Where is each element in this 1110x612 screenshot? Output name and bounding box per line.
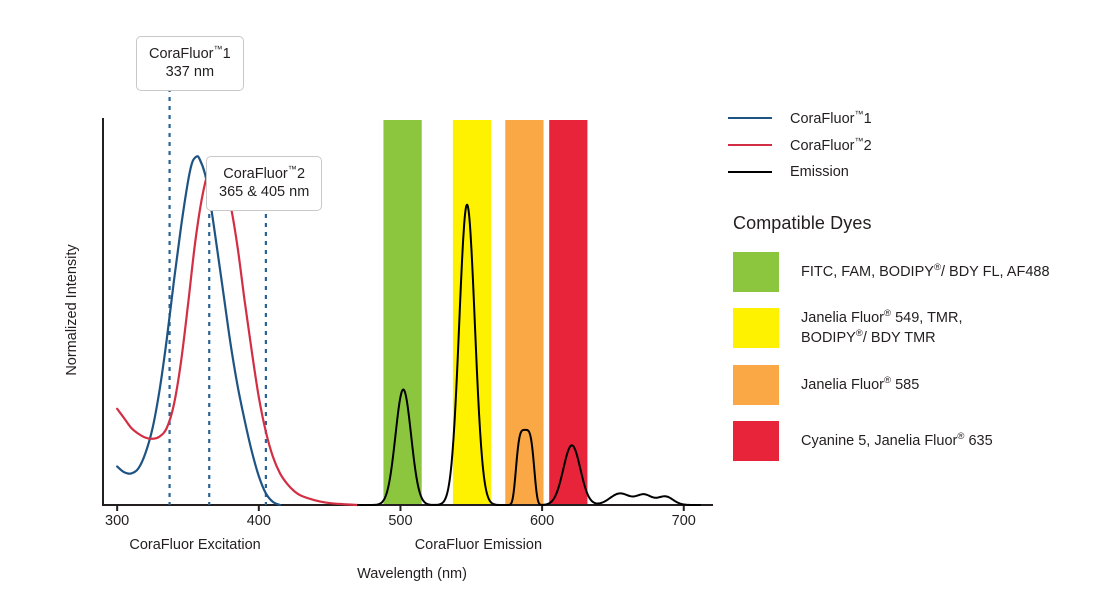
callout-cora-fluor-2: CoraFluor™2 365 & 405 nm bbox=[206, 156, 322, 211]
registered-icon: ® bbox=[884, 375, 891, 386]
callout-cf2-value: 365 & 405 nm bbox=[219, 183, 309, 202]
x-axis-tick-label-400: 400 bbox=[247, 513, 271, 529]
dye-legend-label-2: Janelia Fluor® 585 bbox=[801, 375, 919, 395]
callout-cf1-title: CoraFluor™1 bbox=[149, 44, 231, 63]
figure-root: CoraFluor™1 337 nm CoraFluor™2 365 & 405… bbox=[0, 0, 1110, 612]
dye-legend-label-3: Cyanine 5, Janelia Fluor® 635 bbox=[801, 431, 993, 451]
y-axis-title: Normalized Intensity bbox=[64, 244, 80, 375]
x-axis-region-label-excitation: CoraFluor Excitation bbox=[129, 537, 260, 553]
line-swatch-0 bbox=[728, 117, 772, 119]
callout-cf2-title: CoraFluor™2 bbox=[219, 164, 309, 183]
dye-legend-label-1-line-1: BODIPY®/ BDY TMR bbox=[801, 328, 963, 348]
registered-icon: ® bbox=[856, 328, 863, 339]
dye-legend-label-1: Janelia Fluor® 549, TMR,BODIPY®/ BDY TMR bbox=[801, 308, 963, 349]
registered-icon: ® bbox=[884, 308, 891, 319]
dye-color-swatch-1 bbox=[733, 308, 779, 348]
line-legend-row-0: CoraFluor™1 bbox=[728, 104, 1100, 131]
dye-color-swatch-0 bbox=[733, 252, 779, 292]
legend-name-number: 1 bbox=[864, 110, 872, 126]
line-legend-row-1: CoraFluor™2 bbox=[728, 131, 1100, 158]
x-axis-region-label-emission: CoraFluor Emission bbox=[415, 537, 542, 553]
series-curve-corafluor2 bbox=[117, 162, 358, 505]
dye-legend-label-0: FITC, FAM, BODIPY®/ BDY FL, AF488 bbox=[801, 262, 1050, 282]
dye-legend-label-1-line-0: Janelia Fluor® 549, TMR, bbox=[801, 308, 963, 328]
legend-name-text: CoraFluor bbox=[790, 110, 854, 126]
line-legend-label-2: Emission bbox=[790, 164, 849, 180]
dye-color-swatch-3 bbox=[733, 421, 779, 461]
x-axis-tick-label-300: 300 bbox=[105, 513, 129, 529]
dye-band-red-band bbox=[549, 120, 587, 505]
dye-band-green-band bbox=[383, 120, 421, 505]
dye-band-orange-band bbox=[505, 120, 543, 505]
trademark-icon: ™ bbox=[288, 164, 297, 174]
x-axis-tick-label-600: 600 bbox=[530, 513, 554, 529]
dye-legend-row-2: Janelia Fluor® 585 bbox=[728, 365, 1100, 405]
compatible-dyes-heading: Compatible Dyes bbox=[733, 213, 1100, 234]
line-swatch-2 bbox=[728, 171, 772, 173]
dye-legend-row-0: FITC, FAM, BODIPY®/ BDY FL, AF488 bbox=[728, 252, 1100, 292]
line-legend-row-2: Emission bbox=[728, 158, 1100, 185]
callout-cf1-number: 1 bbox=[223, 46, 231, 62]
line-swatch-1 bbox=[728, 144, 772, 146]
trademark-icon: ™ bbox=[854, 136, 863, 146]
callout-cf1-value: 337 nm bbox=[149, 63, 231, 82]
dye-legend-label-3-line-0: Cyanine 5, Janelia Fluor® 635 bbox=[801, 431, 993, 451]
line-legend-list: CoraFluor™1CoraFluor™2Emission bbox=[728, 104, 1100, 185]
trademark-icon: ™ bbox=[213, 44, 222, 54]
dye-band-yellow-band bbox=[453, 120, 491, 505]
compatible-dyes-list: FITC, FAM, BODIPY®/ BDY FL, AF488Janelia… bbox=[728, 252, 1100, 461]
dye-legend-label-0-line-0: FITC, FAM, BODIPY®/ BDY FL, AF488 bbox=[801, 262, 1050, 282]
legend-name-number: 2 bbox=[864, 137, 872, 153]
line-legend-label-0: CoraFluor™1 bbox=[790, 109, 872, 127]
dye-color-swatch-2 bbox=[733, 365, 779, 405]
legend-panel: CoraFluor™1CoraFluor™2Emission Compatibl… bbox=[728, 104, 1100, 477]
dye-legend-row-1: Janelia Fluor® 549, TMR,BODIPY®/ BDY TMR bbox=[728, 308, 1100, 349]
x-axis-title: Wavelength (nm) bbox=[357, 566, 467, 582]
dye-legend-label-2-line-0: Janelia Fluor® 585 bbox=[801, 375, 919, 395]
callout-cf2-name: CoraFluor bbox=[223, 166, 287, 182]
callout-cf2-number: 2 bbox=[297, 166, 305, 182]
legend-name-text: CoraFluor bbox=[790, 137, 854, 153]
callout-cora-fluor-1: CoraFluor™1 337 nm bbox=[136, 36, 244, 91]
trademark-icon: ™ bbox=[854, 109, 863, 119]
dye-legend-row-3: Cyanine 5, Janelia Fluor® 635 bbox=[728, 421, 1100, 461]
registered-icon: ® bbox=[934, 262, 941, 273]
line-legend-label-1: CoraFluor™2 bbox=[790, 136, 872, 154]
callout-cf1-name: CoraFluor bbox=[149, 46, 213, 62]
registered-icon: ® bbox=[957, 431, 964, 442]
x-axis-tick-label-700: 700 bbox=[672, 513, 696, 529]
x-axis-tick-label-500: 500 bbox=[388, 513, 412, 529]
